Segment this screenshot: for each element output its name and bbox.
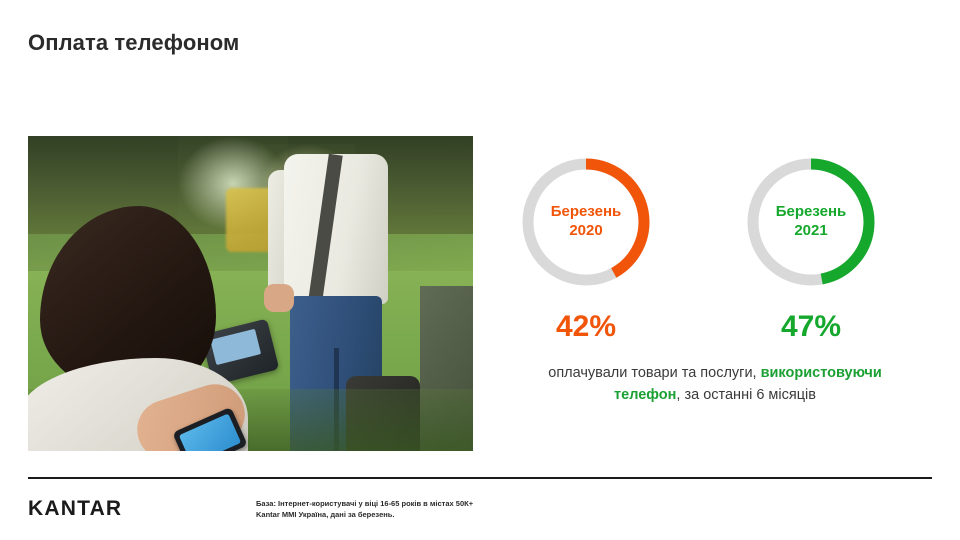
donut-label-2020-line2: 2020 [569, 222, 602, 241]
photo-man-hand [264, 284, 294, 312]
donut-label-2021-line2: 2021 [794, 222, 827, 241]
donut-ring-2020: Березень 2020 [520, 156, 652, 288]
donut-label-2020: Березень 2020 [520, 156, 652, 288]
source-note: База: Інтернет-користувачі у віці 16-65 … [256, 498, 473, 521]
photo-inner [28, 136, 473, 451]
footer-divider [28, 477, 932, 479]
donut-label-2021-line1: Березень [776, 203, 847, 222]
caption-part3: , за останні 6 місяців [676, 387, 816, 403]
photo-terminal-screen [210, 329, 261, 365]
donut-value-2021: 47% [745, 310, 877, 344]
photo-contactless-payment [28, 136, 473, 451]
caption-highlight-1: використовуючи [761, 365, 882, 381]
donut-ring-2021: Березень 2021 [745, 156, 877, 288]
source-note-line2: Kantar MMI Україна, дані за березень. [256, 509, 473, 520]
slide-root: Оплата телефоном [0, 0, 960, 540]
donut-label-2021: Березень 2021 [745, 156, 877, 288]
donut-label-2020-line1: Березень [551, 203, 622, 222]
chart-annotation: оплачували товари та послуги, використов… [515, 362, 915, 407]
source-note-line1: База: Інтернет-користувачі у віці 16-65 … [256, 498, 473, 509]
donut-chart-2021: Березень 2021 47% [745, 156, 877, 344]
caption-part1: оплачували товари та послуги, [548, 365, 760, 381]
caption-highlight-2: телефон [614, 387, 676, 403]
donut-chart-2020: Березень 2020 42% [520, 156, 652, 344]
donut-value-2020: 42% [520, 310, 652, 344]
page-title: Оплата телефоном [28, 30, 239, 56]
kantar-logo: KANTAR [28, 497, 122, 521]
